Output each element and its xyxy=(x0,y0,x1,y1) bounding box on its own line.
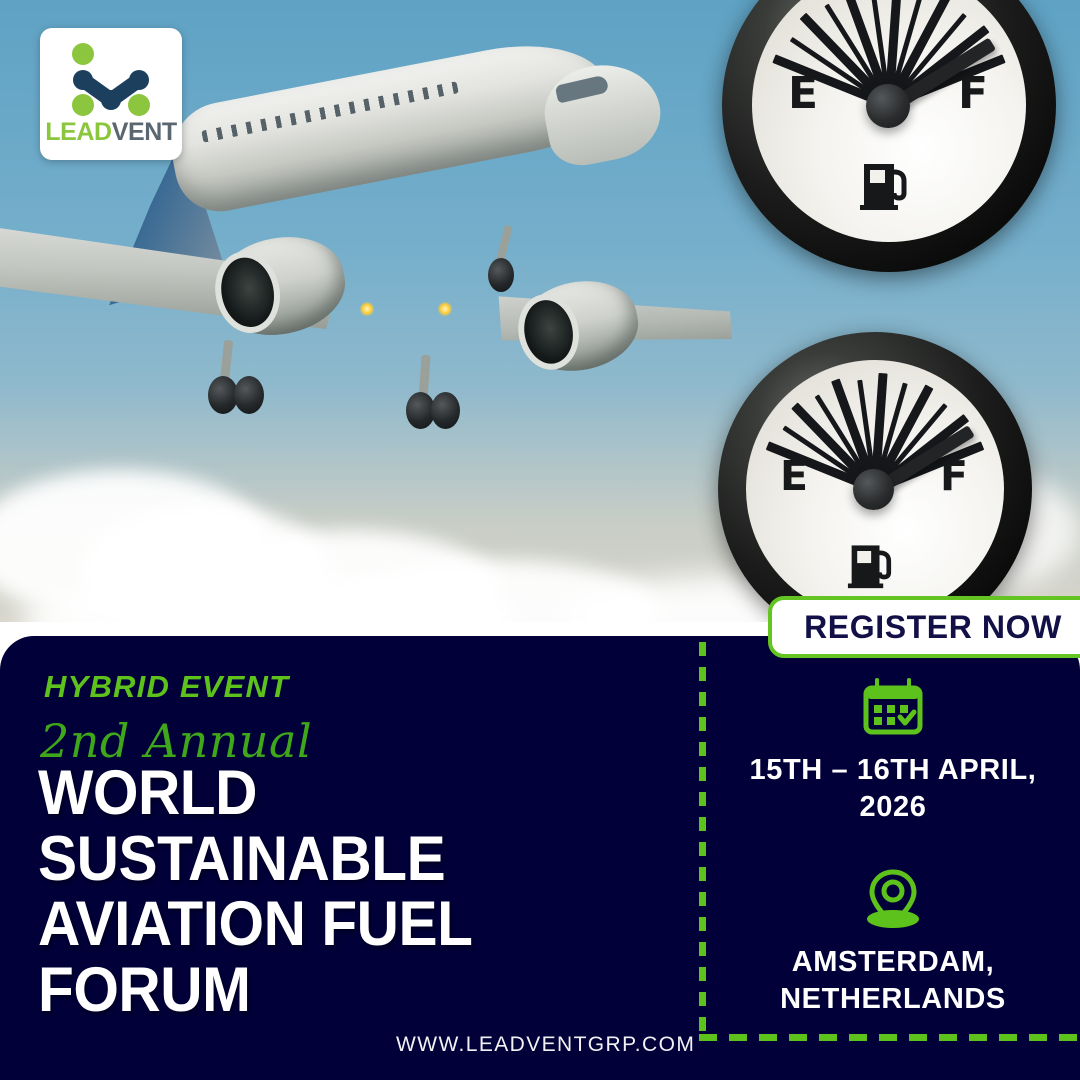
gauge-face: E F xyxy=(752,0,1026,242)
register-now-button[interactable]: REGISTER NOW xyxy=(768,596,1080,658)
logo-vent-text: VENT xyxy=(112,118,177,146)
landing-light xyxy=(360,302,374,316)
airplane-engine xyxy=(207,226,353,345)
dashed-divider-vertical xyxy=(699,642,706,1040)
event-kicker: HYBRID EVENT xyxy=(44,669,289,705)
calendar-icon xyxy=(861,676,925,738)
map-pin-icon xyxy=(863,868,923,930)
leadvent-logo[interactable]: LEADVENT xyxy=(40,28,182,160)
engine-intake xyxy=(215,253,279,332)
gauge-empty-label: E xyxy=(780,456,808,497)
website-url: WWW.LEADVENTGRP.COM xyxy=(396,1033,695,1057)
event-date: 15TH – 16TH APRIL, 2026 xyxy=(706,752,1080,826)
fuel-gauge-bottom: E F xyxy=(718,332,1032,622)
landing-gear-wheel xyxy=(234,376,264,414)
landing-light xyxy=(438,302,452,316)
logo-lead-text: LEAD xyxy=(45,118,111,146)
fuel-gauge-top: E F xyxy=(722,0,1056,272)
gauge-full-label: F xyxy=(958,72,988,116)
gauge-hub xyxy=(866,84,910,128)
engine-intake xyxy=(519,296,578,368)
page-title: WORLD SUSTAINABLE AVIATION FUEL FORUM xyxy=(38,761,633,1023)
gauge-full-label: F xyxy=(940,456,968,497)
event-location: AMSTERDAM, NETHERLANDS xyxy=(706,944,1080,1018)
landing-gear-wheel xyxy=(431,392,460,429)
network-nodes-logo-icon xyxy=(61,42,161,120)
airplane-engine xyxy=(513,272,646,381)
fuel-pump-icon xyxy=(846,538,900,590)
fuel-pump-icon xyxy=(858,156,916,212)
event-details-column: 15TH – 16TH APRIL, 2026 AMSTERDAM, NETHE… xyxy=(706,676,1080,1018)
gauge-hub xyxy=(853,469,894,510)
location-block: AMSTERDAM, NETHERLANDS xyxy=(706,868,1080,1018)
event-poster: E F xyxy=(0,0,1080,1080)
landing-gear-wheel xyxy=(488,258,514,292)
dashed-divider-horizontal xyxy=(699,1034,1080,1041)
date-block: 15TH – 16TH APRIL, 2026 xyxy=(706,676,1080,826)
logo-wordmark: LEADVENT xyxy=(40,118,182,147)
gauge-empty-label: E xyxy=(788,72,818,116)
gauge-face: E F xyxy=(746,360,1004,618)
